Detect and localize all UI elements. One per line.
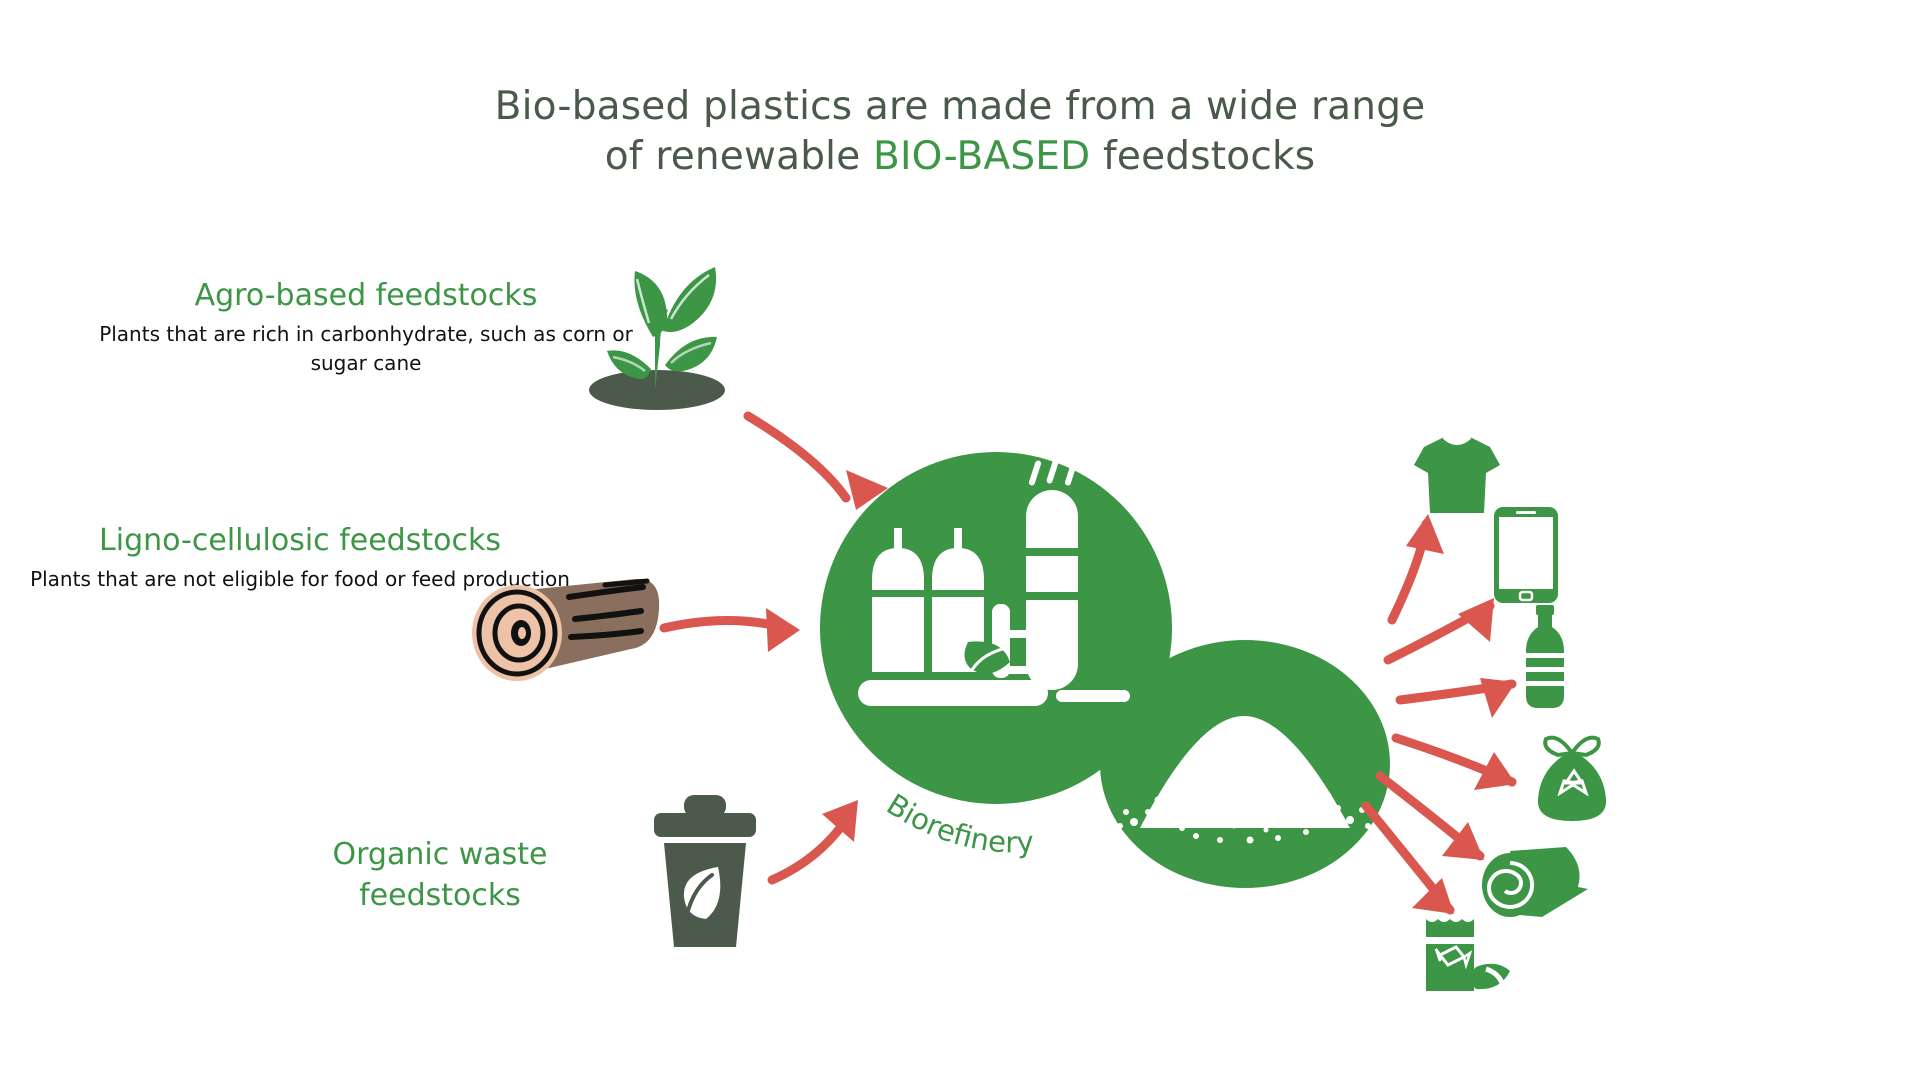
flow-arrows: [0, 0, 1920, 1080]
snack-packaging-icon: [1418, 915, 1518, 993]
waste-bag-icon: [1532, 735, 1612, 825]
plastic-bottle-icon: [1520, 605, 1570, 710]
smartphone-icon: [1492, 505, 1560, 605]
t-shirt-icon: [1412, 435, 1502, 515]
arrow-agro-to-biorefinery: [748, 416, 846, 498]
infographic-canvas: Bio-based plastics are made from a wide …: [0, 0, 1920, 1080]
film-roll-icon: [1480, 845, 1590, 920]
